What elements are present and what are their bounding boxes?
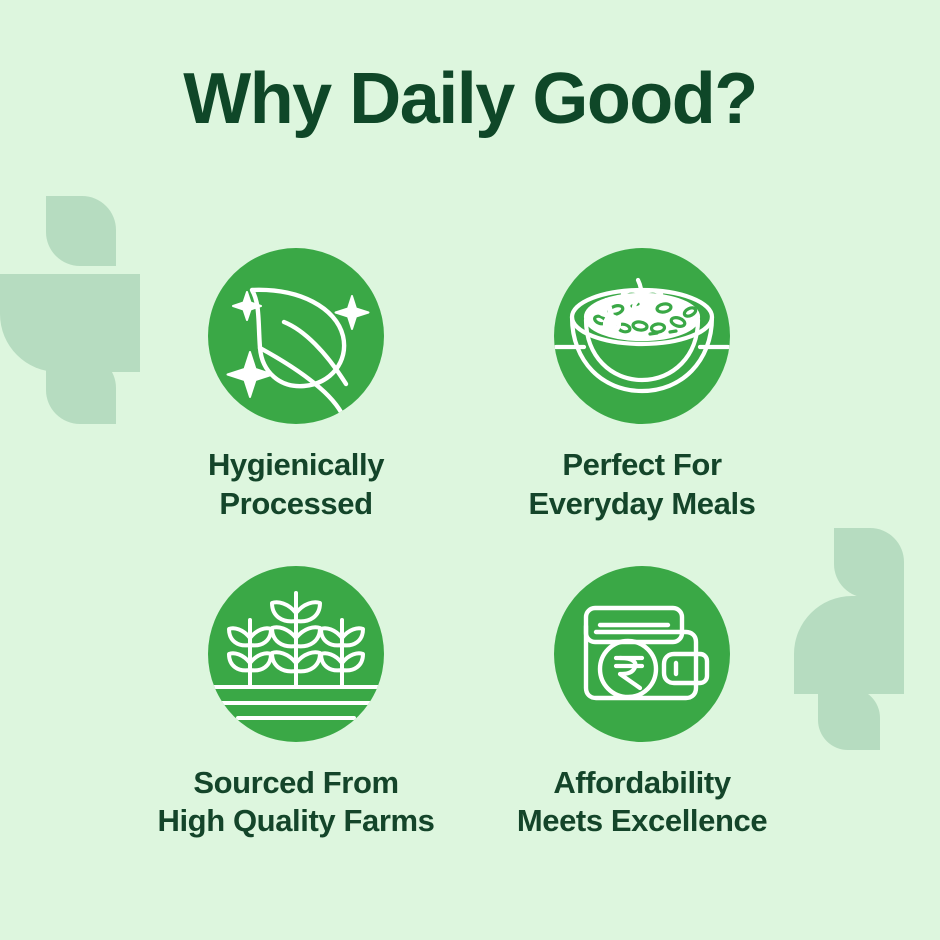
promo-poster: Why Daily Good? Hygienically Proce bbox=[0, 0, 940, 940]
sparkle-leaf-icon bbox=[208, 248, 384, 424]
feature-caption: Hygienically Processed bbox=[208, 446, 384, 524]
feature-card-everyday-meals: Perfect For Everyday Meals bbox=[462, 248, 822, 524]
rupee-wallet-icon bbox=[554, 566, 730, 742]
crop-field-icon bbox=[208, 566, 384, 742]
feature-grid: Hygienically Processed bbox=[0, 248, 940, 841]
feature-caption: Sourced From High Quality Farms bbox=[157, 764, 434, 842]
feature-caption: Perfect For Everyday Meals bbox=[528, 446, 755, 524]
soup-bowl-icon bbox=[554, 248, 730, 424]
feature-card-hygienically-processed: Hygienically Processed bbox=[116, 248, 476, 524]
feature-card-high-quality-farms: Sourced From High Quality Farms bbox=[116, 566, 476, 842]
feature-card-affordability: Affordability Meets Excellence bbox=[462, 566, 822, 842]
page-title: Why Daily Good? bbox=[0, 62, 940, 138]
feature-caption: Affordability Meets Excellence bbox=[517, 764, 767, 842]
